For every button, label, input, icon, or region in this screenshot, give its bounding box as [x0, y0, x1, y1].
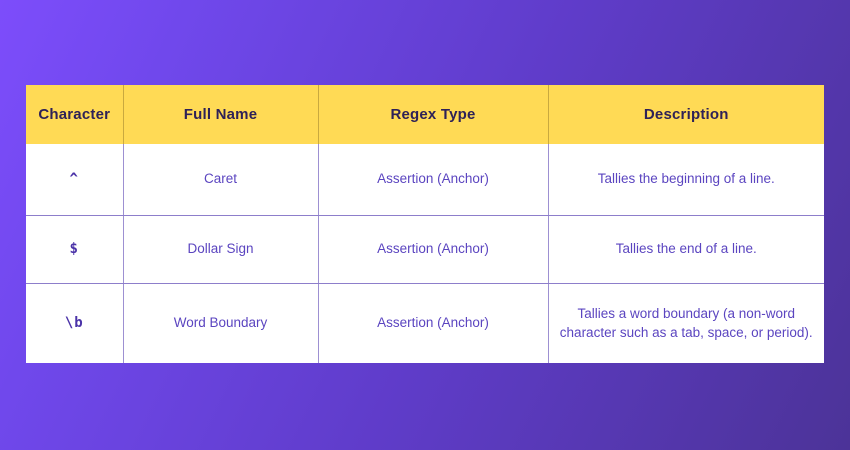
table-header-row: Character Full Name Regex Type Descripti… — [26, 85, 824, 144]
cell-character: ^ — [26, 144, 123, 215]
regex-reference-table-container: Character Full Name Regex Type Descripti… — [26, 85, 824, 363]
cell-full-name: Word Boundary — [123, 283, 318, 363]
cell-full-name: Caret — [123, 144, 318, 215]
cell-regex-type: Assertion (Anchor) — [318, 283, 548, 363]
table-header: Character Full Name Regex Type Descripti… — [26, 85, 824, 144]
table-row: $ Dollar Sign Assertion (Anchor) Tallies… — [26, 215, 824, 283]
column-header-full-name: Full Name — [123, 85, 318, 144]
cell-full-name: Dollar Sign — [123, 215, 318, 283]
cell-description: Tallies the end of a line. — [548, 215, 824, 283]
cell-description: Tallies the beginning of a line. — [548, 144, 824, 215]
cell-character: $ — [26, 215, 123, 283]
cell-regex-type: Assertion (Anchor) — [318, 144, 548, 215]
column-header-character: Character — [26, 85, 123, 144]
regex-reference-table: Character Full Name Regex Type Descripti… — [26, 85, 824, 363]
column-header-regex-type: Regex Type — [318, 85, 548, 144]
cell-description: Tallies a word boundary (a non-word char… — [548, 283, 824, 363]
cell-character: \b — [26, 283, 123, 363]
column-header-description: Description — [548, 85, 824, 144]
cell-regex-type: Assertion (Anchor) — [318, 215, 548, 283]
table-row: \b Word Boundary Assertion (Anchor) Tall… — [26, 283, 824, 363]
page-canvas: Character Full Name Regex Type Descripti… — [0, 0, 850, 450]
table-row: ^ Caret Assertion (Anchor) Tallies the b… — [26, 144, 824, 215]
table-body: ^ Caret Assertion (Anchor) Tallies the b… — [26, 144, 824, 363]
